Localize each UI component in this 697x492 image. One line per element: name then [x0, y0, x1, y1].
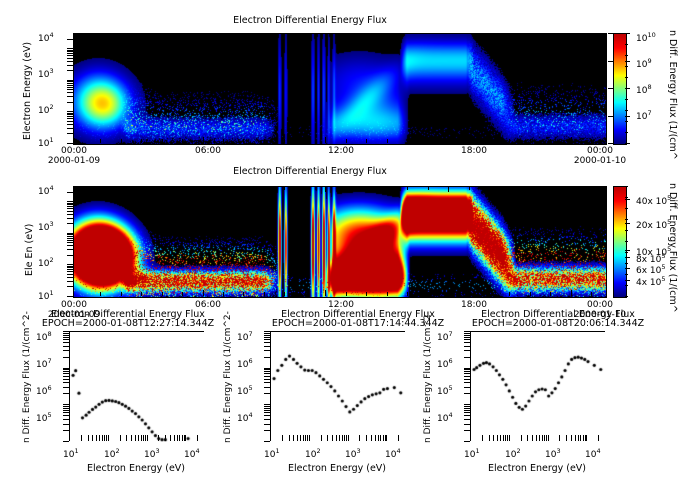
tick-mark: [625, 241, 628, 242]
tick-mark: [267, 337, 270, 338]
tick-mark: [346, 186, 347, 190]
tick-mark: [467, 350, 470, 351]
b3-ytick-4: 104: [437, 411, 453, 424]
tick-mark: [203, 186, 204, 192]
tick-mark: [305, 435, 306, 438]
tick-mark: [467, 406, 470, 407]
tick-mark: [70, 70, 73, 71]
mid-ytick-2: 102: [38, 256, 54, 269]
tick-mark: [70, 192, 73, 193]
tick-mark: [598, 435, 599, 438]
tick-mark: [464, 331, 470, 332]
tick-mark: [70, 277, 73, 278]
tick-mark: [104, 438, 105, 441]
tick-mark: [300, 435, 301, 438]
tick-mark: [521, 438, 522, 441]
tick-mark: [464, 404, 470, 405]
bottom-2-plot: [270, 331, 405, 441]
b3-xtick-1: 101: [464, 447, 480, 460]
tick-mark: [625, 285, 628, 286]
tick-mark: [489, 139, 490, 143]
bottom-1-ylabel: n Diff. Energy Flux (1/(cm^2-: [22, 311, 32, 443]
tick-mark: [321, 438, 322, 441]
tick-mark: [88, 435, 89, 438]
b1-xtick-1: 101: [63, 447, 79, 460]
tick-mark: [182, 139, 183, 143]
tick-mark: [120, 438, 121, 441]
tick-mark: [70, 128, 73, 129]
b2-ytick-4: 104: [237, 411, 253, 424]
tick-mark: [407, 139, 408, 143]
tick-mark: [407, 186, 408, 190]
tick-mark: [70, 116, 73, 117]
tick-mark: [625, 250, 630, 251]
tick-mark: [586, 435, 587, 441]
top-xtick-4: 00:00: [587, 146, 613, 156]
tick-mark: [559, 438, 560, 441]
tick-mark: [141, 186, 142, 190]
tick-mark: [467, 339, 470, 340]
tick-mark: [131, 435, 132, 438]
tick-mark: [267, 382, 270, 383]
tick-mark: [66, 369, 69, 370]
tick-mark: [70, 223, 73, 224]
tick-mark: [542, 438, 543, 441]
tick-mark: [625, 99, 628, 100]
tick-mark: [625, 263, 628, 264]
bottom-2-subtitle: EPOCH=2000-01-08T17:14:44.344Z: [248, 318, 468, 329]
tick-mark: [66, 371, 69, 372]
tick-mark: [284, 139, 285, 143]
tick-mark: [380, 435, 381, 438]
b3-xtick-2: 102: [505, 447, 521, 460]
tick-mark: [598, 438, 599, 441]
tick-mark: [503, 435, 504, 438]
tick-mark: [625, 77, 628, 78]
tick-mark: [92, 435, 93, 438]
tick-mark: [336, 438, 337, 441]
tick-mark: [70, 204, 73, 205]
tick-mark: [70, 211, 73, 212]
tick-mark: [387, 186, 388, 190]
tick-mark: [102, 438, 103, 441]
tick-mark: [625, 33, 628, 34]
tick-mark: [366, 435, 367, 438]
top-ytick-1: 101: [38, 136, 54, 149]
tick-mark: [67, 296, 73, 297]
tick-mark: [448, 137, 449, 143]
bottom-3-canvas: [471, 332, 606, 442]
bottom-1-xlabel: Electron Energy (eV): [87, 463, 185, 474]
tick-mark: [70, 249, 73, 250]
tick-mark: [489, 438, 490, 441]
tick-mark: [467, 342, 470, 343]
tick-mark: [332, 435, 333, 438]
tick-mark: [267, 406, 270, 407]
tick-mark: [162, 139, 163, 143]
bottom-2-ylabel: n Diff. Energy Flux (1/(cm^2-: [223, 311, 233, 443]
tick-mark: [625, 274, 628, 275]
tick-mark: [264, 404, 270, 405]
tick-mark: [339, 438, 340, 441]
tick-mark: [70, 274, 73, 275]
top-xtick-0: 00:00: [61, 146, 87, 156]
b2-ytick-7: 107: [237, 330, 253, 343]
tick-mark: [625, 252, 628, 253]
tick-mark: [108, 435, 109, 441]
tick-mark: [366, 186, 367, 190]
tick-mark: [566, 438, 567, 441]
tick-mark: [305, 292, 306, 296]
b1-ytick-5: 105: [36, 411, 52, 424]
tick-mark: [182, 435, 183, 438]
tick-mark: [141, 435, 142, 438]
tick-mark: [503, 438, 504, 441]
bottom-2-canvas: [271, 332, 406, 442]
tick-mark: [70, 267, 73, 268]
b1-xtick-4: 104: [184, 447, 200, 460]
tick-mark: [378, 435, 379, 438]
b3-ytick-5: 105: [437, 384, 453, 397]
tick-mark: [527, 438, 528, 441]
tick-mark: [591, 292, 592, 296]
tick-mark: [467, 371, 470, 372]
tick-mark: [580, 438, 581, 441]
tick-mark: [70, 271, 73, 272]
tick-mark: [469, 139, 470, 143]
tick-mark: [536, 438, 537, 441]
tick-mark: [158, 435, 159, 438]
tick-mark: [497, 438, 498, 441]
b2-xtick-3: 103: [345, 447, 361, 460]
top-spectrogram-canvas: [74, 34, 606, 144]
tick-mark: [100, 292, 101, 296]
tick-mark: [303, 435, 304, 438]
tick-mark: [342, 438, 343, 441]
tick-mark: [70, 234, 73, 235]
tick-mark: [505, 435, 506, 438]
tick-mark: [158, 438, 159, 441]
tick-mark: [571, 137, 572, 143]
top-cbtick-7: 107: [636, 109, 652, 122]
tick-mark: [66, 337, 69, 338]
tick-mark: [197, 435, 198, 438]
tick-mark: [70, 245, 73, 246]
tick-mark: [467, 376, 470, 377]
tick-mark: [102, 435, 103, 438]
tick-mark: [267, 387, 270, 388]
bottom-3-subtitle: EPOCH=2000-01-08T20:06:14.344Z: [448, 318, 668, 329]
tick-mark: [66, 342, 69, 343]
tick-mark: [264, 331, 270, 332]
tick-mark: [66, 424, 69, 425]
tick-mark: [66, 350, 69, 351]
mid-cbtick-4: 4x 105: [636, 275, 666, 288]
tick-mark: [467, 335, 470, 336]
tick-mark: [339, 435, 340, 438]
tick-mark: [566, 435, 567, 438]
tick-mark: [170, 435, 171, 438]
tick-mark: [346, 292, 347, 296]
tick-mark: [165, 435, 166, 438]
tick-mark: [143, 438, 144, 441]
tick-mark: [625, 61, 630, 62]
b1-xtick-3: 103: [144, 447, 160, 460]
tick-mark: [303, 438, 304, 441]
tick-mark: [147, 435, 148, 441]
tick-mark: [375, 438, 376, 441]
tick-mark: [297, 438, 298, 441]
tick-mark: [344, 438, 345, 441]
mid-cbtick-40: 40x 105: [636, 194, 671, 207]
tick-mark: [448, 290, 449, 296]
tick-mark: [70, 96, 73, 97]
tick-mark: [467, 333, 470, 334]
tick-mark: [509, 186, 510, 190]
mid-ytick-4: 104: [38, 184, 54, 197]
tick-mark: [66, 419, 69, 420]
top-colorbar: [613, 33, 627, 145]
middle-colorbar-label: n Diff. Energy Flux (1/(cm^: [667, 183, 678, 313]
top-ytick-2: 102: [38, 103, 54, 116]
tick-mark: [66, 415, 69, 416]
bottom-3-ylabel: n Diff. Energy Flux (1/(cm^2-: [423, 311, 433, 443]
tick-mark: [99, 435, 100, 438]
tick-mark: [96, 435, 97, 438]
tick-mark: [467, 387, 470, 388]
tick-mark: [67, 201, 73, 202]
tick-mark: [293, 438, 294, 441]
b3-ytick-7: 107: [437, 330, 453, 343]
tick-mark: [70, 113, 73, 114]
tick-mark: [375, 435, 376, 438]
tick-mark: [126, 435, 127, 438]
tick-mark: [88, 438, 89, 441]
tick-mark: [346, 435, 347, 438]
bottom-1-subtitle: EPOCH=2000-01-08T12:27:14.344Z: [18, 318, 238, 329]
tick-mark: [267, 419, 270, 420]
tick-mark: [70, 266, 73, 267]
tick-mark: [366, 292, 367, 296]
tick-mark: [482, 435, 483, 438]
tick-mark: [307, 435, 308, 438]
tick-mark: [145, 435, 146, 438]
tick-mark: [625, 257, 630, 258]
tick-mark: [608, 88, 613, 89]
tick-mark: [267, 371, 270, 372]
tick-mark: [583, 435, 584, 438]
b1-ytick-8: 108: [36, 330, 52, 343]
middle-colorbar: [613, 186, 627, 298]
tick-mark: [467, 346, 470, 347]
tick-mark: [267, 415, 270, 416]
tick-mark: [135, 435, 136, 438]
tick-mark: [625, 186, 628, 187]
tick-mark: [267, 373, 270, 374]
tick-mark: [583, 438, 584, 441]
tick-mark: [223, 186, 224, 190]
tick-mark: [70, 53, 73, 54]
tick-mark: [305, 186, 306, 190]
tick-mark: [66, 393, 69, 394]
tick-mark: [66, 346, 69, 347]
tick-mark: [264, 292, 265, 296]
tick-mark: [467, 410, 470, 411]
tick-mark: [509, 435, 510, 441]
tick-mark: [66, 333, 69, 334]
tick-mark: [325, 137, 326, 143]
tick-mark: [536, 435, 537, 438]
tick-mark: [63, 331, 69, 332]
tick-mark: [289, 435, 290, 438]
tick-mark: [243, 139, 244, 143]
tick-mark: [309, 435, 310, 441]
tick-mark: [177, 438, 178, 441]
tick-mark: [179, 435, 180, 438]
tick-mark: [625, 280, 630, 281]
tick-mark: [383, 438, 384, 441]
tick-mark: [467, 337, 470, 338]
tick-mark: [203, 290, 204, 296]
tick-mark: [325, 186, 326, 192]
b2-ytick-6: 106: [237, 357, 253, 370]
tick-mark: [467, 419, 470, 420]
tick-mark: [243, 186, 244, 190]
tick-mark: [267, 376, 270, 377]
b1-xtick-2: 102: [104, 447, 120, 460]
tick-mark: [70, 61, 73, 62]
tick-mark: [467, 393, 470, 394]
tick-mark: [321, 435, 322, 438]
tick-mark: [70, 124, 73, 125]
tick-mark: [267, 342, 270, 343]
tick-mark: [70, 240, 73, 241]
tick-mark: [625, 230, 628, 231]
tick-mark: [66, 408, 69, 409]
tick-mark: [332, 438, 333, 441]
tick-mark: [387, 292, 388, 296]
tick-mark: [267, 357, 270, 358]
tick-mark: [539, 438, 540, 441]
tick-mark: [625, 268, 630, 269]
tick-mark: [625, 88, 628, 89]
tick-mark: [507, 438, 508, 441]
tick-mark: [70, 218, 73, 219]
tick-mark: [81, 435, 82, 438]
tick-mark: [70, 242, 73, 243]
tick-mark: [530, 139, 531, 143]
tick-mark: [383, 435, 384, 438]
tick-mark: [267, 335, 270, 336]
tick-mark: [70, 102, 73, 103]
b2-xtick-2: 102: [305, 447, 321, 460]
top-cbtick-9: 109: [636, 57, 652, 70]
tick-mark: [70, 238, 73, 239]
tick-mark: [267, 346, 270, 347]
tick-mark: [70, 286, 73, 287]
tick-mark: [70, 51, 73, 52]
bottom-2-xlabel: Electron Energy (eV): [288, 463, 386, 474]
tick-mark: [505, 438, 506, 441]
tick-mark: [467, 415, 470, 416]
top-colorbar-label: n Diff. Energy Flux (1/(cm^: [667, 30, 678, 160]
tick-mark: [546, 435, 547, 438]
middle-spectrogram: [73, 186, 607, 298]
tick-mark: [70, 255, 73, 256]
tick-mark: [544, 438, 545, 441]
bottom-1-plot: [69, 331, 204, 441]
tick-mark: [530, 186, 531, 190]
tick-mark: [532, 438, 533, 441]
top-xdate-right: 2000-01-10: [574, 156, 626, 166]
tick-mark: [197, 438, 198, 441]
tick-mark: [467, 430, 470, 431]
tick-mark: [625, 199, 630, 200]
tick-mark: [342, 435, 343, 438]
b3-xtick-4: 104: [585, 447, 601, 460]
tick-mark: [126, 438, 127, 441]
top-xdate-left: 2000-01-09: [48, 156, 100, 166]
tick-mark: [66, 387, 69, 388]
tick-mark: [387, 139, 388, 143]
tick-mark: [625, 66, 628, 67]
tick-mark: [177, 435, 178, 438]
tick-mark: [305, 438, 306, 441]
tick-mark: [70, 58, 73, 59]
tick-mark: [104, 435, 105, 438]
tick-mark: [70, 39, 73, 40]
tick-mark: [267, 350, 270, 351]
tick-mark: [66, 410, 69, 411]
tick-mark: [66, 376, 69, 377]
tick-mark: [267, 393, 270, 394]
tick-mark: [70, 55, 73, 56]
tick-mark: [66, 430, 69, 431]
tick-mark: [70, 50, 73, 51]
tick-mark: [548, 435, 549, 441]
top-cbtick-10: 1010: [636, 31, 656, 44]
tick-mark: [467, 424, 470, 425]
tick-mark: [99, 438, 100, 441]
middle-panel-title: Electron Differential Energy Flux: [0, 166, 620, 177]
tick-mark: [66, 382, 69, 383]
tick-mark: [67, 80, 73, 81]
tick-mark: [92, 438, 93, 441]
tick-mark: [371, 435, 372, 438]
tick-mark: [267, 408, 270, 409]
tick-mark: [67, 233, 73, 234]
bottom-1-canvas: [70, 332, 205, 442]
tick-mark: [344, 435, 345, 438]
bottom-3-plot: [470, 331, 605, 441]
tick-mark: [70, 87, 73, 88]
tick-mark: [70, 65, 73, 66]
tick-mark: [467, 382, 470, 383]
tick-mark: [170, 438, 171, 441]
tick-mark: [182, 292, 183, 296]
tick-mark: [559, 435, 560, 438]
tick-mark: [346, 438, 347, 441]
tick-mark: [67, 48, 73, 49]
tick-mark: [264, 441, 270, 442]
tick-mark: [69, 435, 70, 441]
tick-mark: [578, 435, 579, 438]
tick-mark: [70, 269, 73, 270]
tick-mark: [264, 368, 270, 369]
tick-mark: [625, 143, 628, 144]
tick-mark: [380, 438, 381, 441]
tick-mark: [467, 412, 470, 413]
